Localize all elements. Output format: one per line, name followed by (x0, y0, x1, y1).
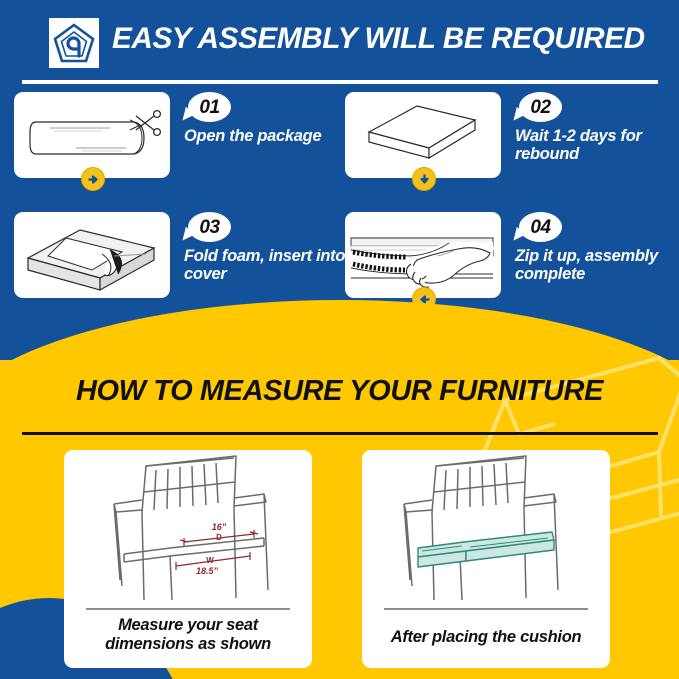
dimension-width-value: 18.5” (196, 566, 219, 576)
step-label-02: Wait 1-2 days for rebound (515, 127, 679, 164)
page-title: EASY ASSEMBLY WILL BE REQUIRED (112, 22, 645, 56)
measure-card-caption-left: Measure your seat dimensions as shown (74, 616, 302, 654)
measure-card-cushion: After placing the cushion (362, 450, 610, 668)
measure-card-divider (384, 608, 588, 610)
step-number-02: 02 (530, 98, 550, 117)
step-illustration-04 (345, 212, 501, 298)
header-divider (22, 80, 658, 84)
house-pentagon-logo-icon (49, 18, 99, 68)
measure-title-divider (22, 432, 658, 435)
step-number-badge-03: 03 (184, 212, 231, 244)
step-label-04: Zip it up, assembly complete (515, 247, 679, 284)
assembly-header: EASY ASSEMBLY WILL BE REQUIRED (0, 8, 679, 70)
step-illustration-02 (345, 92, 501, 178)
step-illustration-03 (14, 212, 170, 298)
chair-with-cushion-illustration (362, 450, 610, 610)
step-number-badge-02: 02 (515, 92, 562, 124)
assembly-section: EASY ASSEMBLY WILL BE REQUIRED (0, 0, 679, 360)
step-label-01: Open the package (184, 127, 352, 145)
step-text-04: 04 Zip it up, assembly complete (515, 212, 679, 284)
step-number-03: 03 (199, 218, 219, 237)
step-illustration-01 (14, 92, 170, 178)
chair-with-seat-dimensions-illustration: 16” D W 18.5” (64, 450, 312, 610)
measure-section-title: HOW TO MEASURE YOUR FURNITURE (0, 375, 679, 408)
measure-card-dimensions: 16” D W 18.5” Measure your seat dimensio… (64, 450, 312, 668)
arrow-down-icon (412, 167, 436, 191)
step-label-03: Fold foam, insert into cover (184, 247, 352, 284)
dimension-depth-letter: D (216, 533, 222, 542)
dimension-width-letter: W (206, 556, 214, 565)
step-number-04: 04 (530, 218, 550, 237)
dimension-depth-value: 16” (212, 522, 227, 532)
measure-card-caption-right: After placing the cushion (372, 628, 600, 647)
step-number-badge-01: 01 (184, 92, 231, 124)
measure-card-divider (86, 608, 290, 610)
step-text-01: 01 Open the package (184, 92, 352, 145)
step-text-02: 02 Wait 1-2 days for rebound (515, 92, 679, 164)
step-text-03: 03 Fold foam, insert into cover (184, 212, 352, 284)
step-number-badge-04: 04 (515, 212, 562, 244)
infographic-root: EASY ASSEMBLY WILL BE REQUIRED (0, 0, 679, 679)
arrow-right-icon (81, 167, 105, 191)
step-number-01: 01 (199, 98, 219, 117)
